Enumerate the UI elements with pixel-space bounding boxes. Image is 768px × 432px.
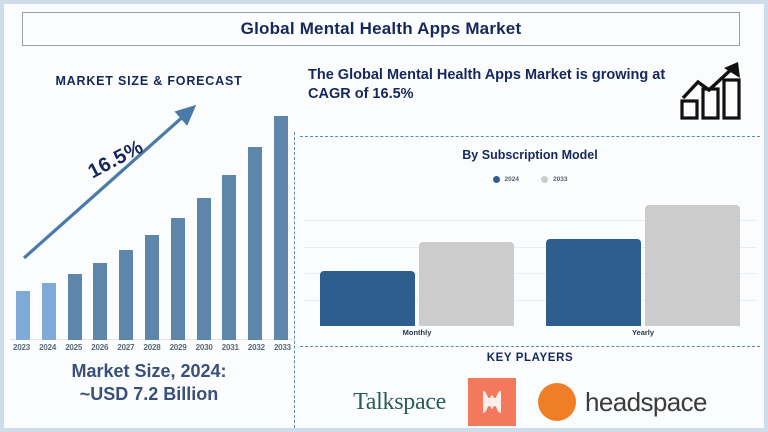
market-size-bar: [68, 274, 82, 340]
subscription-bar-chart: [304, 194, 756, 326]
year-label: 2025: [62, 343, 85, 352]
logo-talkspace: Talkspace: [353, 389, 446, 416]
logo-modern-health: [468, 378, 516, 426]
growth-arrow: [4, 92, 294, 282]
year-label: 2029: [167, 343, 190, 352]
market-size-bar: [42, 283, 56, 340]
headspace-wordmark: headspace: [585, 387, 707, 418]
market-size-panel: MARKET SIZE & FORECAST 16.5% 20232024202…: [4, 52, 294, 428]
legend-label: 2033: [553, 176, 567, 183]
bar-chart-up-icon: [678, 60, 750, 122]
legend-item[interactable]: 2024: [493, 176, 519, 183]
year-label: 2033: [271, 343, 294, 352]
category-label: Monthly: [304, 328, 530, 337]
year-label: 2024: [36, 343, 59, 352]
year-label: 2031: [219, 343, 242, 352]
legend-swatch-icon: [493, 176, 500, 183]
vertical-divider: [294, 132, 295, 428]
legend-swatch-icon: [541, 176, 548, 183]
cagr-headline: The Global Mental Health Apps Market is …: [308, 66, 668, 104]
category-label: Yearly: [530, 328, 756, 337]
subscription-chart-title: By Subscription Model: [296, 148, 764, 162]
year-label: 2026: [88, 343, 111, 352]
title-banner: Global Mental Health Apps Market: [22, 12, 740, 46]
divider-bottom: [300, 346, 760, 347]
subscription-bar: [320, 271, 415, 326]
year-label: 2032: [245, 343, 268, 352]
subscription-bar: [419, 242, 514, 326]
subscription-legend: 20242033: [296, 176, 764, 183]
year-axis-labels: 2023202420252026202720282029203020312032…: [10, 343, 294, 352]
right-panel: The Global Mental Health Apps Market is …: [296, 52, 764, 428]
legend-label: 2024: [505, 176, 519, 183]
infographic-canvas: Global Mental Health Apps Market MARKET …: [4, 4, 764, 428]
year-label: 2023: [10, 343, 33, 352]
legend-item[interactable]: 2033: [541, 176, 567, 183]
year-label: 2030: [193, 343, 216, 352]
subscription-bar: [546, 239, 641, 326]
divider-top: [300, 136, 760, 137]
market-size-heading: MARKET SIZE & FORECAST: [4, 74, 294, 88]
headspace-circle-icon: [538, 383, 576, 421]
year-label: 2028: [140, 343, 163, 352]
callout-line-2: ~USD 7.2 Billion: [4, 383, 294, 406]
subscription-bar: [645, 205, 740, 326]
page-title: Global Mental Health Apps Market: [241, 19, 522, 39]
market-size-bar: [16, 291, 30, 340]
market-size-callout: Market Size, 2024: ~USD 7.2 Billion: [4, 360, 294, 406]
key-players-title: KEY PLAYERS: [296, 352, 764, 364]
callout-line-1: Market Size, 2024:: [4, 360, 294, 383]
key-players-row: Talkspace headspace: [296, 374, 764, 430]
modern-health-mark-icon: [477, 387, 507, 417]
year-label: 2027: [114, 343, 137, 352]
logo-headspace: headspace: [538, 383, 707, 421]
